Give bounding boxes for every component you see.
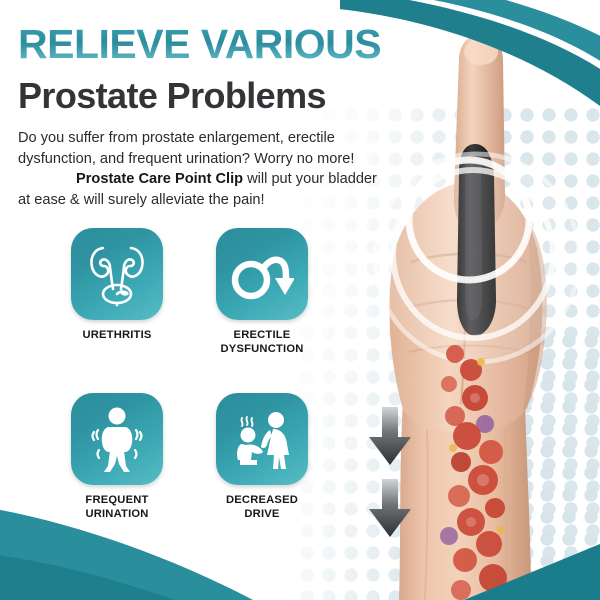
couple-low-libido-icon [229, 407, 295, 471]
body-copy: Do you suffer from prostate enlargement,… [18, 128, 386, 210]
person-holding-bladder-icon [86, 406, 148, 472]
symptom-label: URETHRITIS [52, 329, 182, 343]
male-symbol-drooping-arrow-icon [230, 245, 294, 303]
symptom-tile [216, 393, 308, 485]
symptom-tile [71, 393, 163, 485]
red-blood-cells-illustration [415, 340, 545, 600]
symptom-label: FREQUENT URINATION [52, 494, 182, 521]
acupressure-ripple-rings [373, 150, 588, 370]
advertisement-poster: RELIEVE VARIOUS Prostate Problems Do you… [0, 0, 600, 600]
symptom-tile [216, 228, 308, 320]
page-subtitle: Prostate Problems [18, 76, 438, 116]
symptom-tile [71, 228, 163, 320]
symptom-label: DECREASED DRIVE [197, 494, 327, 521]
symptom-card-urethritis[interactable]: URETHRITIS [52, 228, 182, 343]
product-name: Prostate Care Point Clip [76, 171, 243, 187]
body-sentence-1: Do you suffer from prostate enlargement,… [18, 130, 354, 167]
page-title: RELIEVE VARIOUS [18, 22, 418, 67]
downward-arrows [360, 405, 420, 545]
symptom-card-erectile-dysfunction[interactable]: ERECTILE DYSFUNCTION [197, 228, 327, 356]
kidney-bladder-icon [86, 241, 148, 307]
symptom-card-frequent-urination[interactable]: FREQUENT URINATION [52, 393, 182, 521]
symptom-label: ERECTILE DYSFUNCTION [197, 329, 327, 356]
symptom-card-decreased-drive[interactable]: DECREASED DRIVE [197, 393, 327, 521]
